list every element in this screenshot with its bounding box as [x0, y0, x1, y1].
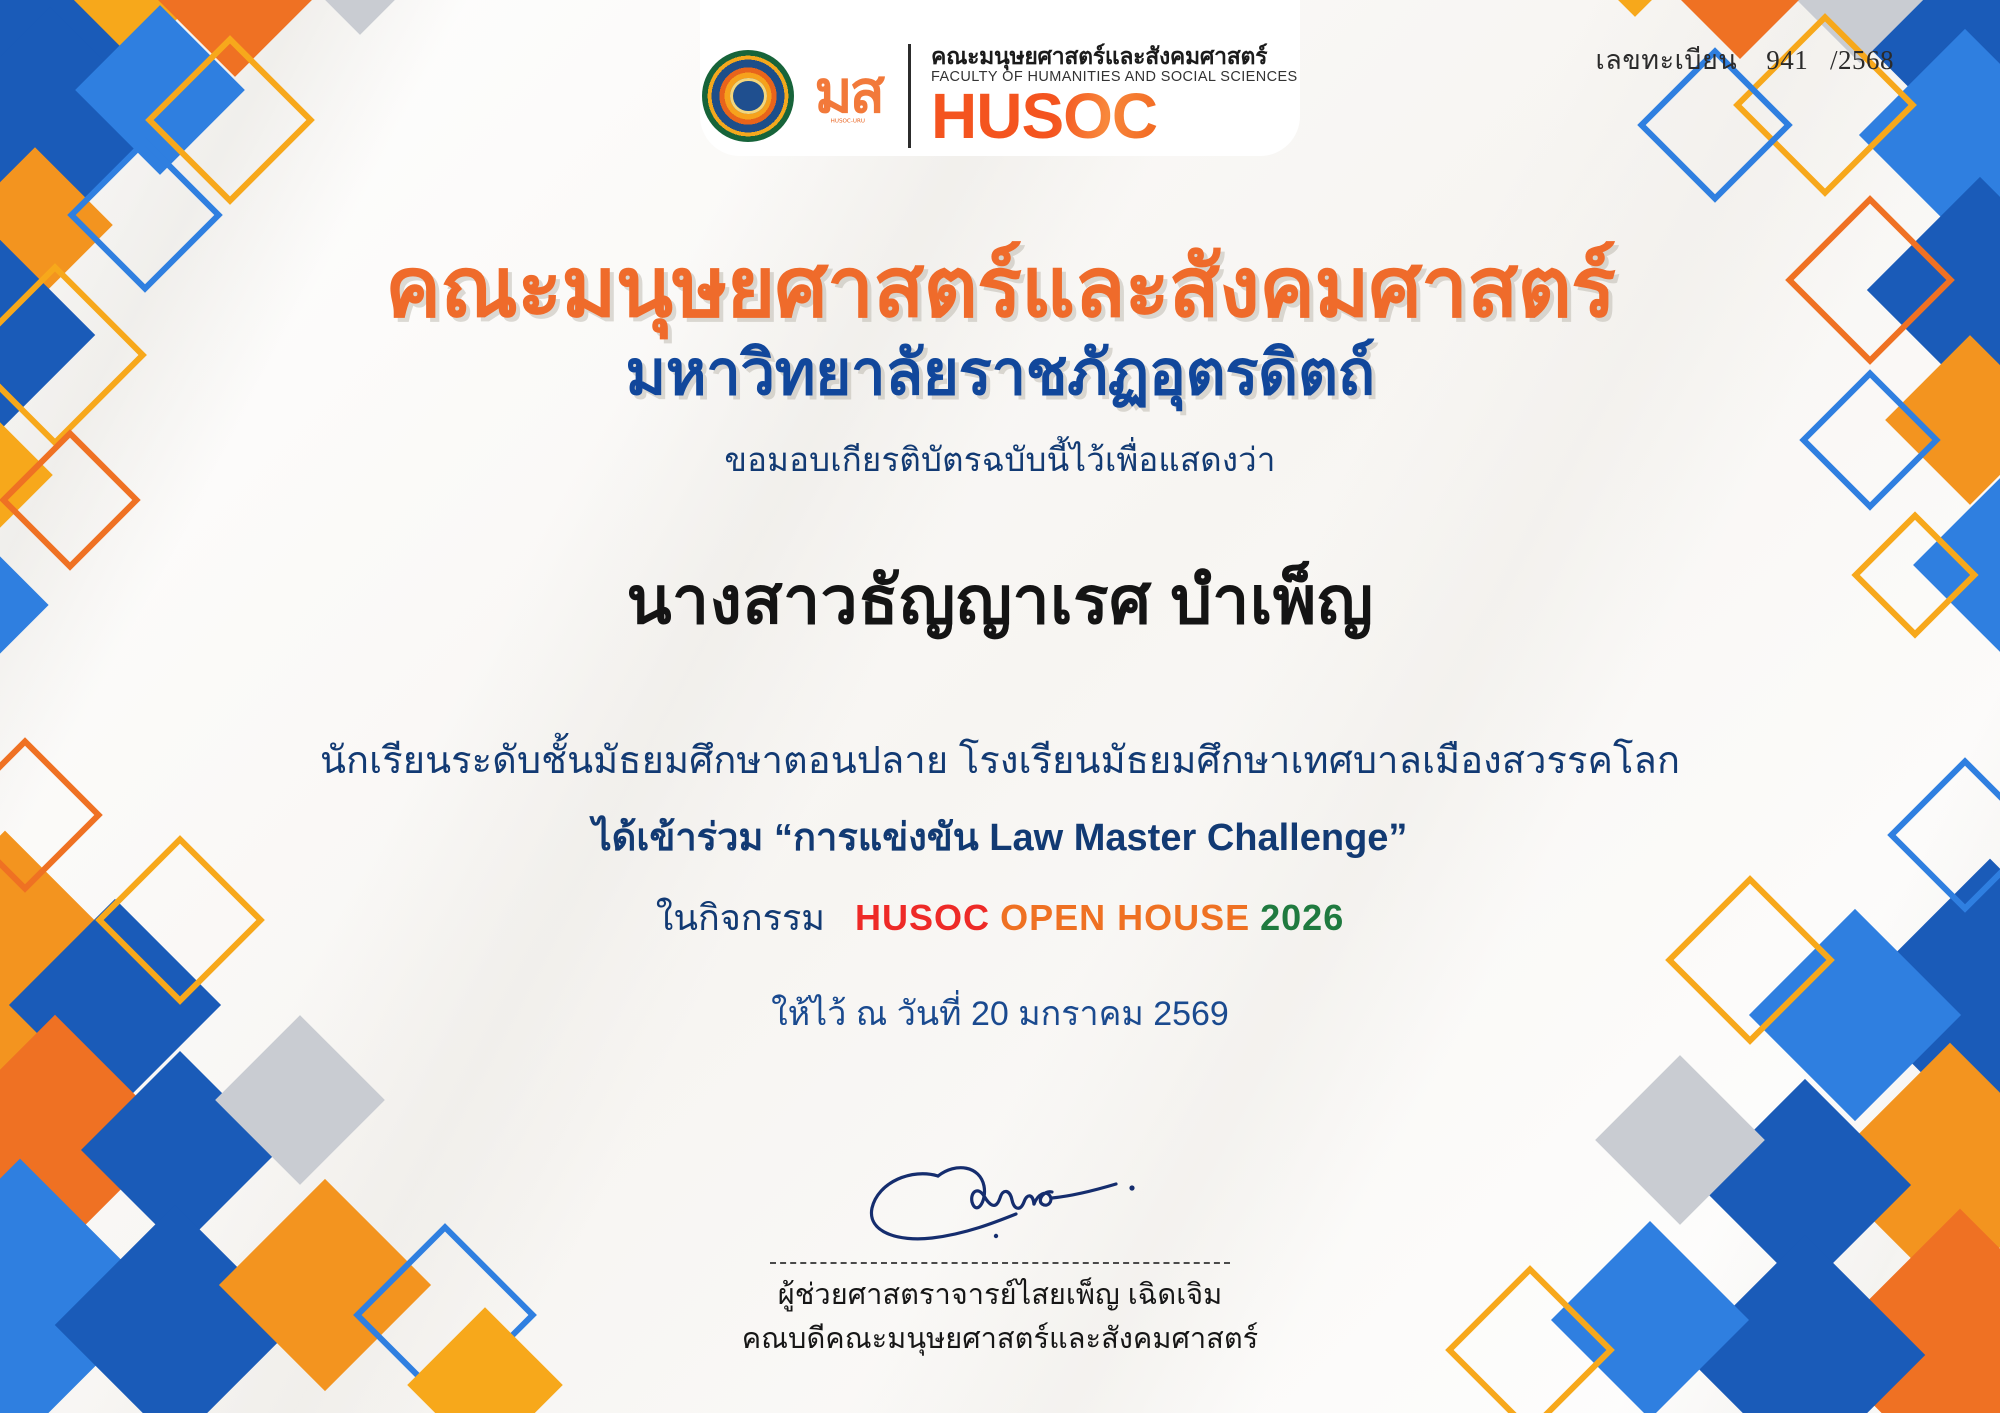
registration-label: เลขทะเบียน — [1596, 45, 1738, 75]
award-statement: ขอมอบเกียรติบัตรฉบับนี้ไว้เพื่อแสดงว่า — [724, 433, 1275, 486]
university-title: มหาวิทยาลัยราชภัฏอุตรดิตถ์ — [625, 343, 1374, 405]
signature-rule — [770, 1262, 1230, 1264]
event-prefix: ในกิจกรรม — [656, 897, 825, 938]
logo-divider — [908, 44, 911, 148]
event-open-house: OPEN HOUSE — [1000, 897, 1250, 938]
event-husoc: HUSOC — [855, 897, 990, 938]
hs-monogram-caption: HUSOC-URU — [821, 119, 875, 124]
certificate-page: เลขทะเบียน 941 /2568 มส HUSOC-URU คณะมนุ… — [0, 0, 2000, 1413]
husoc-monogram-icon: มส HUSOC-URU — [808, 68, 888, 124]
faculty-title: คณะมนุษยศาสตร์และสังคมศาสตร์ — [385, 245, 1615, 329]
registration-value: 941 — [1766, 45, 1808, 75]
university-seal-icon — [702, 50, 794, 142]
recipient-name: นางสาวธัญญาเรศ บำเพ็ญ — [626, 548, 1373, 653]
logo-header-pill: มส HUSOC-URU คณะมนุษยศาสตร์และสังคมศาสตร… — [700, 0, 1300, 156]
logo-row: มส HUSOC-URU คณะมนุษยศาสตร์และสังคมศาสตร… — [702, 44, 1297, 148]
signature-block: ผู้ช่วยศาสตราจารย์ไสยเพ็ญ เฉิดเจิม คณบดี… — [690, 1146, 1310, 1361]
signatory-position: คณบดีคณะมนุษยศาสตร์และสังคมศาสตร์ — [690, 1318, 1310, 1362]
recipient-school-line: นักเรียนระดับชั้นมัธยมศึกษาตอนปลาย โรงเร… — [320, 729, 1680, 790]
registration-year: /2568 — [1830, 45, 1894, 75]
signatory-name: ผู้ช่วยศาสตราจารย์ไสยเพ็ญ เฉิดเจิม — [690, 1274, 1310, 1318]
logo-husoc-wordmark: HUSOC — [931, 86, 1298, 147]
handwritten-signature-icon — [820, 1146, 1180, 1256]
logo-faculty-th: คณะมนุษยศาสตร์และสังคมศาสตร์ — [931, 45, 1298, 68]
activity-line: ได้เข้าร่วม “การแข่งขัน Law Master Chall… — [593, 806, 1408, 867]
registration-number: เลขทะเบียน 941 /2568 — [1596, 38, 1894, 81]
event-year: 2026 — [1260, 897, 1344, 938]
event-line: ในกิจกรรม HUSOC OPEN HOUSE 2026 — [656, 889, 1344, 946]
logo-text-block: คณะมนุษยศาสตร์และสังคมศาสตร์ FACULTY OF … — [931, 45, 1298, 147]
issue-date: ให้ไว้ ณ วันที่ 20 มกราคม 2569 — [771, 986, 1229, 1040]
hs-monogram-glyph: มส — [814, 58, 882, 126]
